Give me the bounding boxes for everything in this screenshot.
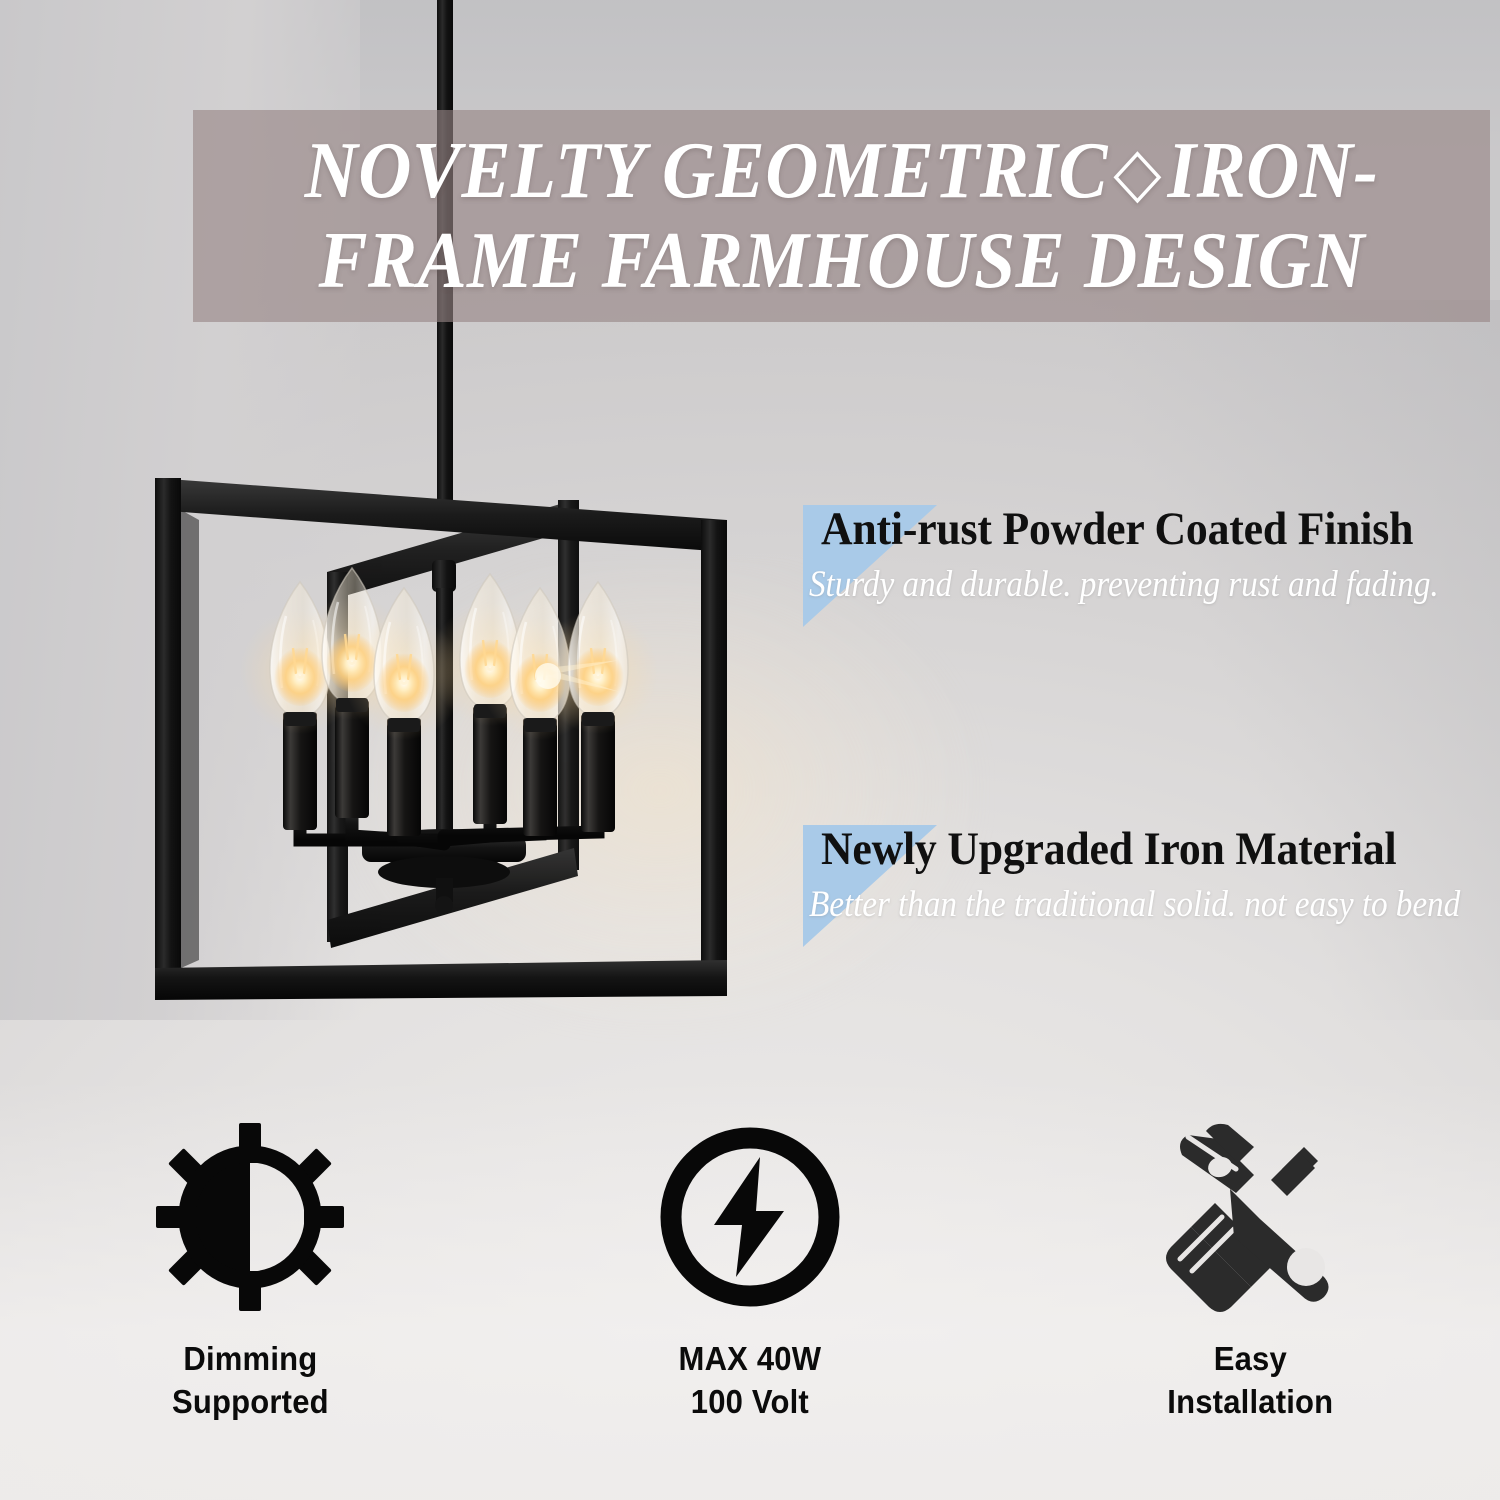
pliers-screwdriver-tools-icon bbox=[1144, 1119, 1356, 1315]
dimming-sun-icon bbox=[152, 1119, 348, 1315]
title-banner: NOVELTY GEOMETRIC◇IRON- FRAME FARMHOUSE … bbox=[193, 110, 1490, 322]
feature-block-anti-rust: Anti-rust Powder Coated Finish Sturdy an… bbox=[803, 505, 1500, 605]
title-line-1: NOVELTY GEOMETRIC◇IRON- bbox=[305, 132, 1379, 210]
feature-subtitle: Sturdy and durable. preventing rust and … bbox=[809, 566, 1439, 605]
badge-dimming: Dimming Supported bbox=[0, 1112, 500, 1424]
title-line-1-part-b: IRON- bbox=[1167, 127, 1378, 215]
spec-badge-row: Dimming Supported MAX 40W 100 Volt bbox=[0, 1112, 1500, 1442]
badge-label-line-1: Dimming bbox=[172, 1338, 329, 1381]
feature-block-iron-material: Newly Upgraded Iron Material Better than… bbox=[803, 825, 1500, 925]
badge-label-line-1: MAX 40W bbox=[679, 1338, 822, 1381]
badge-art bbox=[652, 1112, 848, 1322]
product-feature-image: NOVELTY GEOMETRIC◇IRON- FRAME FARMHOUSE … bbox=[0, 0, 1500, 1500]
badge-label: Easy Installation bbox=[1167, 1338, 1333, 1424]
badge-art bbox=[1144, 1112, 1356, 1322]
badge-label-line-2: 100 Volt bbox=[679, 1381, 822, 1424]
diamond-icon: ◇ bbox=[1108, 134, 1168, 210]
feature-heading: Anti-rust Powder Coated Finish bbox=[821, 505, 1460, 554]
badge-installation: Easy Installation bbox=[1000, 1112, 1500, 1424]
lightning-bolt-circle-icon bbox=[652, 1119, 848, 1315]
feature-heading: Newly Upgraded Iron Material bbox=[821, 825, 1483, 874]
badge-wattage: MAX 40W 100 Volt bbox=[500, 1112, 1000, 1424]
badge-label-line-2: Installation bbox=[1167, 1381, 1333, 1424]
title-line-1-part-a: NOVELTY GEOMETRIC bbox=[305, 127, 1108, 215]
badge-label: MAX 40W 100 Volt bbox=[679, 1338, 822, 1424]
badge-label: Dimming Supported bbox=[172, 1338, 329, 1424]
feature-subtitle: Better than the traditional solid. not e… bbox=[809, 886, 1460, 925]
badge-label-line-1: Easy bbox=[1167, 1338, 1333, 1381]
badge-art bbox=[152, 1112, 348, 1322]
title-line-2: FRAME FARMHOUSE DESIGN bbox=[318, 222, 1364, 300]
badge-label-line-2: Supported bbox=[172, 1381, 329, 1424]
